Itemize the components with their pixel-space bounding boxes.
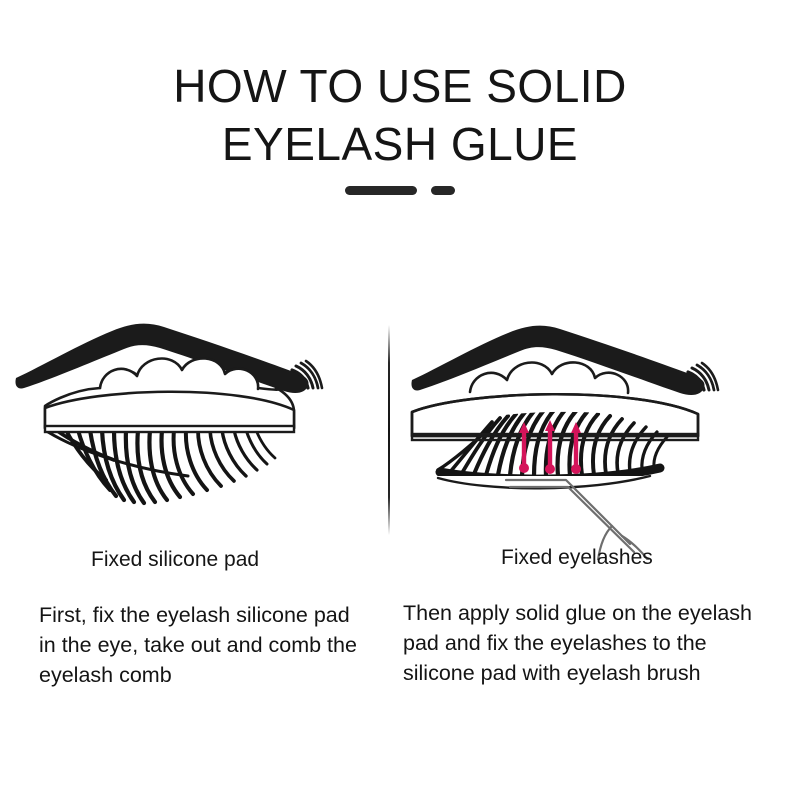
step-2-description: Then apply solid glue on the eyelash pad… (403, 598, 775, 688)
panel-divider (388, 325, 390, 535)
title-line-2: EYELASH GLUE (0, 115, 800, 173)
divider-long-dash-icon (345, 186, 417, 195)
step-1-illustration (8, 300, 398, 560)
divider-short-dash-icon (431, 186, 455, 195)
infographic-page: HOW TO USE SOLID EYELASH GLUE (0, 0, 800, 800)
step-2-caption: Fixed eyelashes (501, 545, 653, 571)
page-title: HOW TO USE SOLID EYELASH GLUE (0, 57, 800, 173)
illustration-panels (0, 300, 800, 560)
step-2-illustration (398, 300, 788, 560)
step-1-caption: Fixed silicone pad (91, 547, 259, 573)
eyelashes-down (48, 430, 275, 503)
title-line-1: HOW TO USE SOLID (0, 57, 800, 115)
step-1-description: First, fix the eyelash silicone pad in t… (39, 600, 369, 690)
title-divider (0, 186, 800, 195)
